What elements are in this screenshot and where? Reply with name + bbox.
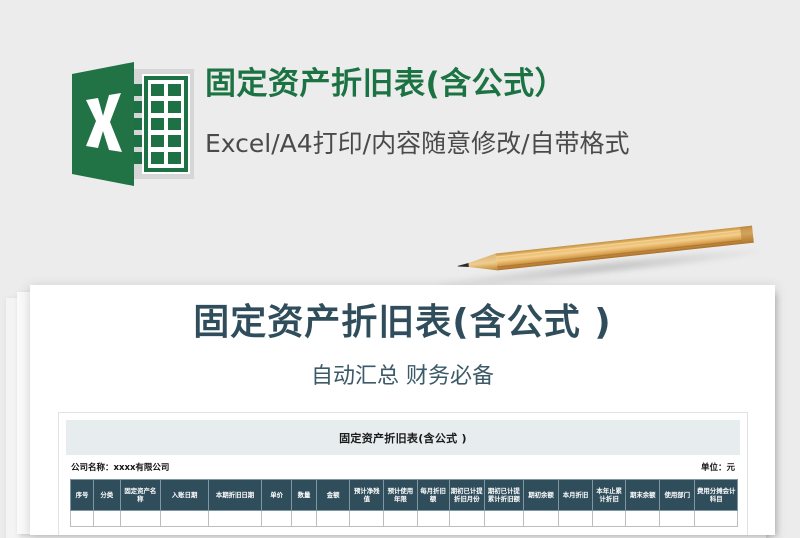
table-header-cell: 使用部门 [660, 480, 695, 511]
spreadsheet-meta-row: 公司名称：xxxx有限公司 单位：元 [71, 455, 735, 479]
page-subtitle: Excel/A4打印/内容随意修改/自带格式 [205, 126, 790, 162]
table-row [71, 511, 738, 527]
table-cell [626, 511, 660, 527]
spreadsheet-grid: 序号分类固定资产名称入账日期本期折旧日期单价数量金额预计净残值预计使用年限每月折… [70, 479, 736, 527]
table-cell [384, 511, 418, 527]
table-cell [484, 511, 523, 527]
table-header-cell: 单价 [262, 480, 292, 511]
spreadsheet-banner-title: 固定资产折旧表(含公式 ) [339, 430, 467, 446]
spreadsheet-banner: 固定资产折旧表(含公式 ) [66, 420, 740, 455]
page-title: 固定资产折旧表(含公式） [205, 62, 790, 106]
table-cell [449, 511, 484, 527]
document-subtitle: 自动汇总 财务必备 [30, 362, 775, 392]
table-cell [559, 511, 593, 527]
table-cell [93, 511, 120, 527]
excel-file-icon [64, 60, 196, 188]
table-header-cell: 金额 [316, 480, 350, 511]
table-cell [695, 511, 738, 527]
table-header-cell: 预计使用年限 [384, 480, 418, 511]
table-cell [660, 511, 695, 527]
table-header-cell: 每月折旧额 [417, 480, 449, 511]
table-header-cell: 数量 [292, 480, 317, 511]
table-header-row: 序号分类固定资产名称入账日期本期折旧日期单价数量金额预计净残值预计使用年限每月折… [71, 480, 738, 511]
document-title: 固定资产折旧表(含公式 ) [30, 300, 775, 346]
table-cell [71, 511, 94, 527]
table-cell [350, 511, 384, 527]
table-cell [417, 511, 449, 527]
table-header-cell: 期末余额 [626, 480, 660, 511]
table-header-cell: 本月折旧 [559, 480, 593, 511]
table-header-cell: 期初已计提累计折旧额 [484, 480, 523, 511]
table-cell [161, 511, 209, 527]
table-header-cell: 期初已计提折旧月份 [449, 480, 484, 511]
hero-text-block: 固定资产折旧表(含公式） Excel/A4打印/内容随意修改/自带格式 [205, 62, 790, 162]
table-cell [208, 511, 261, 527]
company-name-label: 公司名称：xxxx有限公司 [71, 461, 169, 473]
asset-depreciation-table: 序号分类固定资产名称入账日期本期折旧日期单价数量金额预计净残值预计使用年限每月折… [70, 479, 738, 527]
table-cell [292, 511, 317, 527]
table-cell [262, 511, 292, 527]
table-header-cell: 本年止累计折旧 [592, 480, 626, 511]
table-header-cell: 本期折旧日期 [208, 480, 261, 511]
table-header-cell: 期初余额 [523, 480, 558, 511]
table-cell [120, 511, 161, 527]
table-header-cell: 预计净残值 [350, 480, 384, 511]
spreadsheet-preview: 固定资产折旧表(含公式 ) 公司名称：xxxx有限公司 单位：元 序号分类固定资… [58, 412, 748, 535]
table-header-cell: 固定资产名称 [120, 480, 161, 511]
table-cell [523, 511, 558, 527]
unit-label: 单位：元 [701, 461, 735, 473]
hero-banner: 固定资产折旧表(含公式） Excel/A4打印/内容随意修改/自带格式 [0, 0, 800, 240]
table-header-cell: 入账日期 [161, 480, 209, 511]
table-cell [592, 511, 626, 527]
table-header-cell: 费用分摊会计科目 [695, 480, 738, 511]
table-header-cell: 分类 [93, 480, 120, 511]
table-cell [316, 511, 350, 527]
table-header-cell: 序号 [71, 480, 94, 511]
